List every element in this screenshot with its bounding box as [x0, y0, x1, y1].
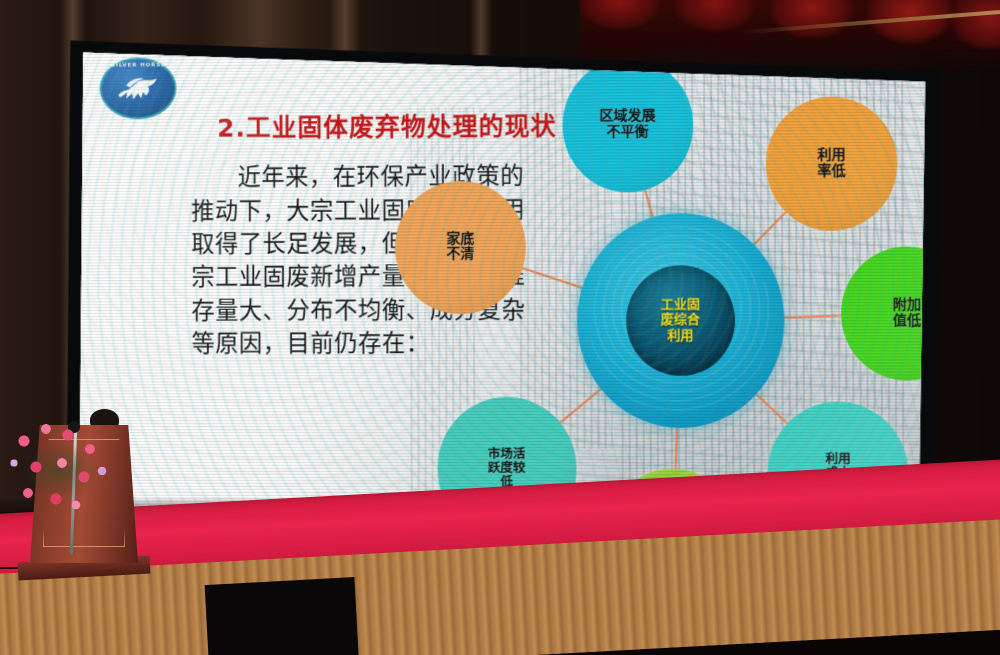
- diagram-node-unknown-base: 家底不清: [395, 180, 525, 314]
- diagram-node-label: 利用率低: [817, 148, 845, 180]
- diagram-hub-label: 工业固废综合利用: [661, 297, 700, 344]
- logo-text: SILVER HORSE: [102, 62, 175, 68]
- silver-horse-logo: SILVER HORSE: [91, 54, 186, 122]
- diagram-hub: 工业固废综合利用: [626, 265, 735, 376]
- diagram-node-label: 市场活跃度较低: [488, 447, 526, 489]
- logo-disc: SILVER HORSE: [100, 57, 177, 119]
- diagram-node-label: 区域发展不平衡: [599, 110, 655, 142]
- diagram-node-label: 附加值低: [893, 298, 921, 330]
- diagram-node-label: 家底不清: [446, 232, 474, 263]
- pegasus-winged-horse-icon: [113, 71, 164, 105]
- auditorium-scene: SILVER HORSE 2.工业固体废弃物处理的现状 近年来，在环保产业政策的…: [0, 0, 1000, 655]
- diagram-node-regional: 区域发展不平衡: [562, 58, 693, 192]
- flower-arrangement: [6, 417, 126, 525]
- stage-vent-opening: [205, 577, 360, 655]
- diagram-node-util-rate: 利用率低: [766, 97, 898, 232]
